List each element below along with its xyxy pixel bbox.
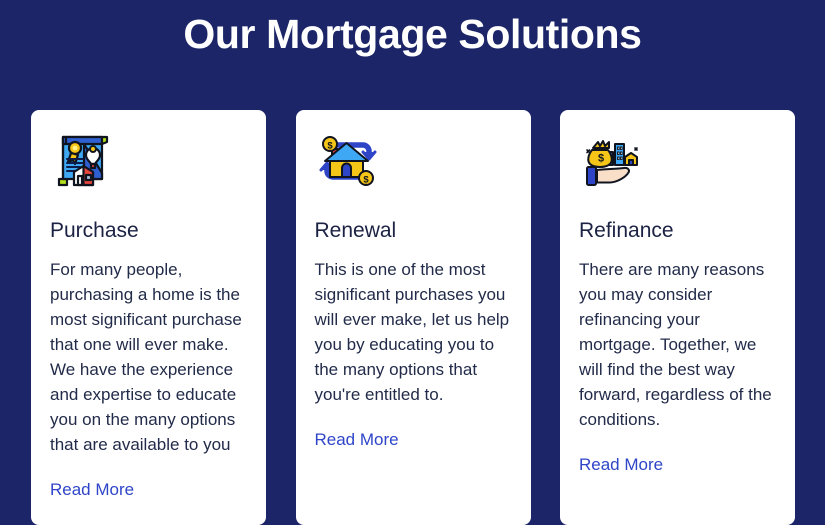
- svg-text:$: $: [327, 141, 333, 152]
- read-more-link[interactable]: Read More: [579, 454, 663, 476]
- solution-card-purchase[interactable]: Purchase For many people, purchasing a h…: [31, 110, 266, 525]
- card-title: Purchase: [50, 218, 247, 243]
- solution-card-renewal[interactable]: $ $ Renewal This is one of the most sign…: [296, 110, 531, 525]
- read-more-link[interactable]: Read More: [50, 479, 134, 501]
- section-title: Our Mortgage Solutions: [0, 0, 825, 58]
- solution-cards-row: Purchase For many people, purchasing a h…: [31, 110, 795, 525]
- svg-text:$: $: [363, 175, 369, 186]
- house-renewal-cycle-icon: $ $: [315, 128, 381, 194]
- svg-text:$: $: [598, 153, 604, 165]
- card-title: Renewal: [315, 218, 512, 243]
- solution-card-refinance[interactable]: $ Refinance There are many reasons you m…: [560, 110, 795, 525]
- read-more-link[interactable]: Read More: [315, 429, 399, 451]
- card-title: Refinance: [579, 218, 776, 243]
- card-body-text: This is one of the most significant purc…: [315, 257, 512, 407]
- mortgage-solutions-section: Our Mortgage Solutions: [0, 0, 825, 525]
- certificate-house-icon: [50, 128, 116, 194]
- card-body-text: For many people, purchasing a home is th…: [50, 257, 247, 457]
- card-body-text: There are many reasons you may consider …: [579, 257, 776, 432]
- hand-money-bag-city-icon: $: [579, 128, 645, 194]
